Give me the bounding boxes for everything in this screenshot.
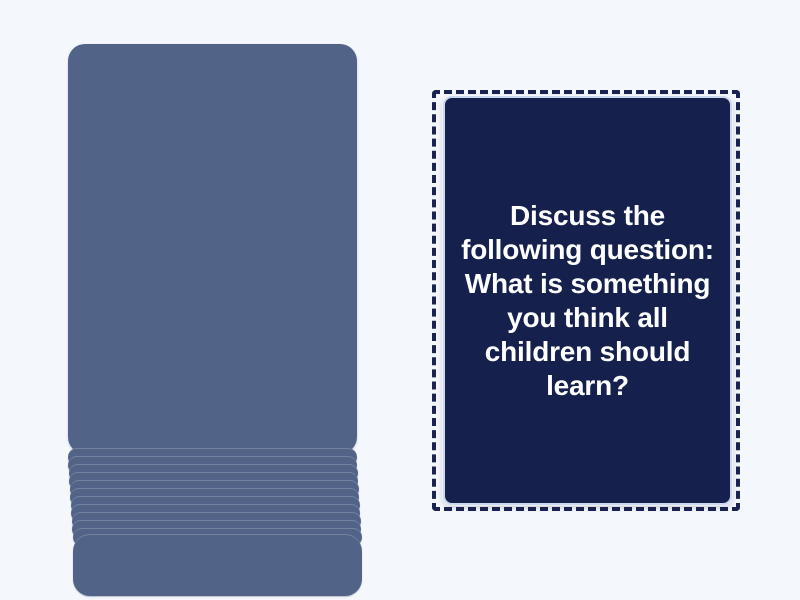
question-card[interactable]: Discuss the following question: What is … (443, 96, 732, 505)
card-deck[interactable] (68, 44, 357, 552)
question-text: Discuss the following question: What is … (459, 199, 717, 403)
flashcard-activity-stage: Discuss the following question: What is … (0, 0, 800, 600)
deck-stack-layer (73, 534, 362, 596)
deck-top-card[interactable] (68, 44, 357, 454)
